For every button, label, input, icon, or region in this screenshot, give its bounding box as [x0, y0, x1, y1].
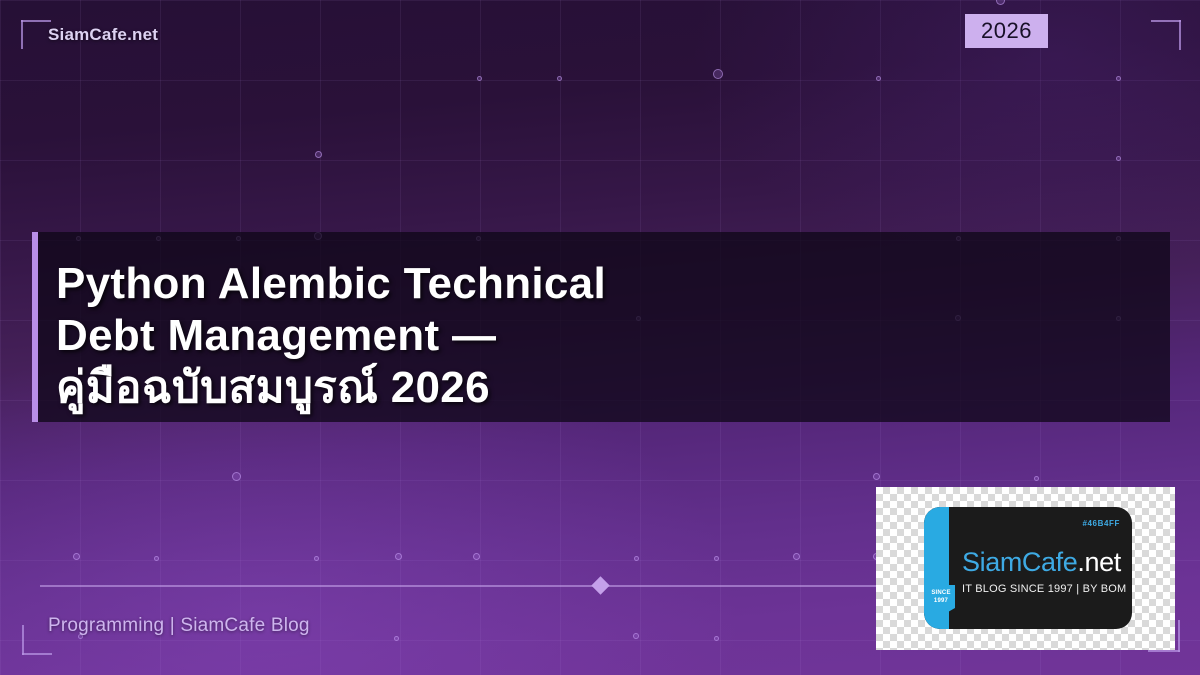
footer-divider: [40, 585, 880, 587]
logo-brand-primary: SiamCafe: [962, 547, 1077, 577]
logo-tagline: IT BLOG SINCE 1997 | BY BOM: [962, 583, 1126, 595]
divider-diamond-icon: [591, 576, 609, 594]
logo-inner-panel: SINCE 1997 #46B4FF SiamCafe.net IT BLOG …: [924, 507, 1132, 629]
since-year: 1997: [934, 598, 948, 604]
decorative-dot: [394, 636, 399, 641]
decorative-dot: [996, 0, 1005, 5]
decorative-dot: [713, 69, 723, 79]
page-title: Python Alembic Technical Debt Management…: [56, 258, 1136, 414]
decorative-dot: [477, 76, 482, 81]
site-name: SiamCafe.net: [48, 25, 158, 45]
logo-card: SINCE 1997 #46B4FF SiamCafe.net IT BLOG …: [876, 487, 1175, 650]
decorative-dot: [315, 151, 322, 158]
year-badge: 2026: [965, 14, 1048, 48]
since-label: SINCE: [931, 590, 950, 596]
logo-brand: SiamCafe.net: [962, 547, 1121, 578]
decorative-dot: [1116, 156, 1121, 161]
logo-brand-suffix: .net: [1077, 547, 1120, 577]
corner-bracket-top-left: [21, 20, 51, 49]
banner-canvas: SiamCafe.net 2026 Python Alembic Technic…: [0, 0, 1200, 675]
decorative-dot: [1034, 476, 1039, 481]
decorative-dot: [876, 76, 881, 81]
corner-bracket-top-right: [1151, 20, 1181, 50]
decorative-dot: [714, 636, 719, 641]
decorative-dot: [154, 556, 159, 561]
decorative-dot: [557, 76, 562, 81]
decorative-dot: [634, 556, 639, 561]
decorative-dot: [633, 633, 639, 639]
breadcrumb: Programming | SiamCafe Blog: [48, 615, 310, 637]
decorative-dot: [714, 556, 719, 561]
decorative-dot: [473, 553, 480, 560]
decorative-dot: [1116, 76, 1121, 81]
decorative-dot: [395, 553, 402, 560]
decorative-dot: [314, 556, 319, 561]
logo-hex-code: #46B4FF: [1082, 519, 1120, 528]
decorative-dot: [793, 553, 800, 560]
decorative-dot: [873, 473, 880, 480]
decorative-dot: [73, 553, 80, 560]
decorative-dot: [232, 472, 241, 481]
